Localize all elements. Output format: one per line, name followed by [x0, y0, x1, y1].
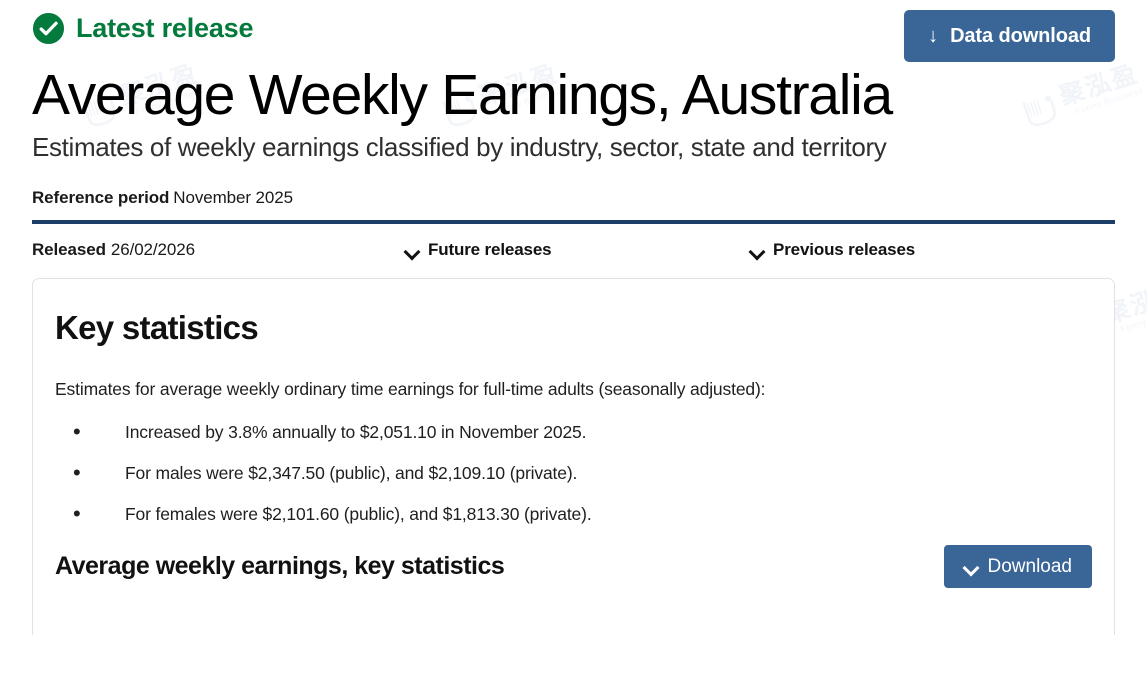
released-label: Released	[32, 240, 106, 259]
release-meta-row: Released26/02/2026 Future releases Previ…	[32, 240, 1115, 260]
download-section: Average weekly earnings, key statistics …	[55, 545, 1092, 588]
key-statistics-heading: Key statistics	[55, 309, 1092, 347]
page-header-bar: Latest release ↓ Data download	[32, 0, 1115, 62]
reference-period-label: Reference period	[32, 188, 169, 207]
released-date: Released26/02/2026	[32, 240, 405, 260]
previous-releases-toggle[interactable]: Previous releases	[750, 240, 915, 260]
key-statistics-list: Increased by 3.8% annually to $2,051.10 …	[55, 422, 1092, 525]
header-divider	[32, 220, 1115, 224]
download-section-heading: Average weekly earnings, key statistics	[55, 552, 504, 581]
chevron-down-icon	[964, 562, 978, 571]
previous-releases-label: Previous releases	[773, 240, 915, 260]
list-item: For females were $2,101.60 (public), and…	[73, 504, 1092, 525]
download-button[interactable]: Download	[944, 545, 1093, 588]
data-download-button[interactable]: ↓ Data download	[904, 10, 1115, 62]
download-arrow-icon: ↓	[928, 26, 938, 46]
release-page: Latest release ↓ Data download Average W…	[0, 0, 1147, 635]
page-subtitle: Estimates of weekly earnings classified …	[32, 133, 1115, 163]
key-statistics-intro: Estimates for average weekly ordinary ti…	[55, 379, 1092, 400]
download-button-label: Download	[988, 556, 1073, 578]
data-download-button-label: Data download	[950, 25, 1091, 48]
chevron-down-icon	[405, 246, 419, 255]
list-item: Increased by 3.8% annually to $2,051.10 …	[73, 422, 1092, 443]
reference-period: Reference periodNovember 2025	[32, 188, 1115, 208]
future-releases-toggle[interactable]: Future releases	[405, 240, 750, 260]
future-releases-label: Future releases	[428, 240, 551, 260]
check-circle-icon	[32, 12, 65, 45]
chevron-down-icon	[750, 246, 764, 255]
reference-period-value: November 2025	[173, 188, 293, 207]
released-value: 26/02/2026	[111, 240, 195, 259]
status-badge-label: Latest release	[76, 13, 253, 44]
page-title: Average Weekly Earnings, Australia	[32, 66, 1115, 125]
list-item: For males were $2,347.50 (public), and $…	[73, 463, 1092, 484]
key-statistics-card: Key statistics Estimates for average wee…	[32, 278, 1115, 635]
